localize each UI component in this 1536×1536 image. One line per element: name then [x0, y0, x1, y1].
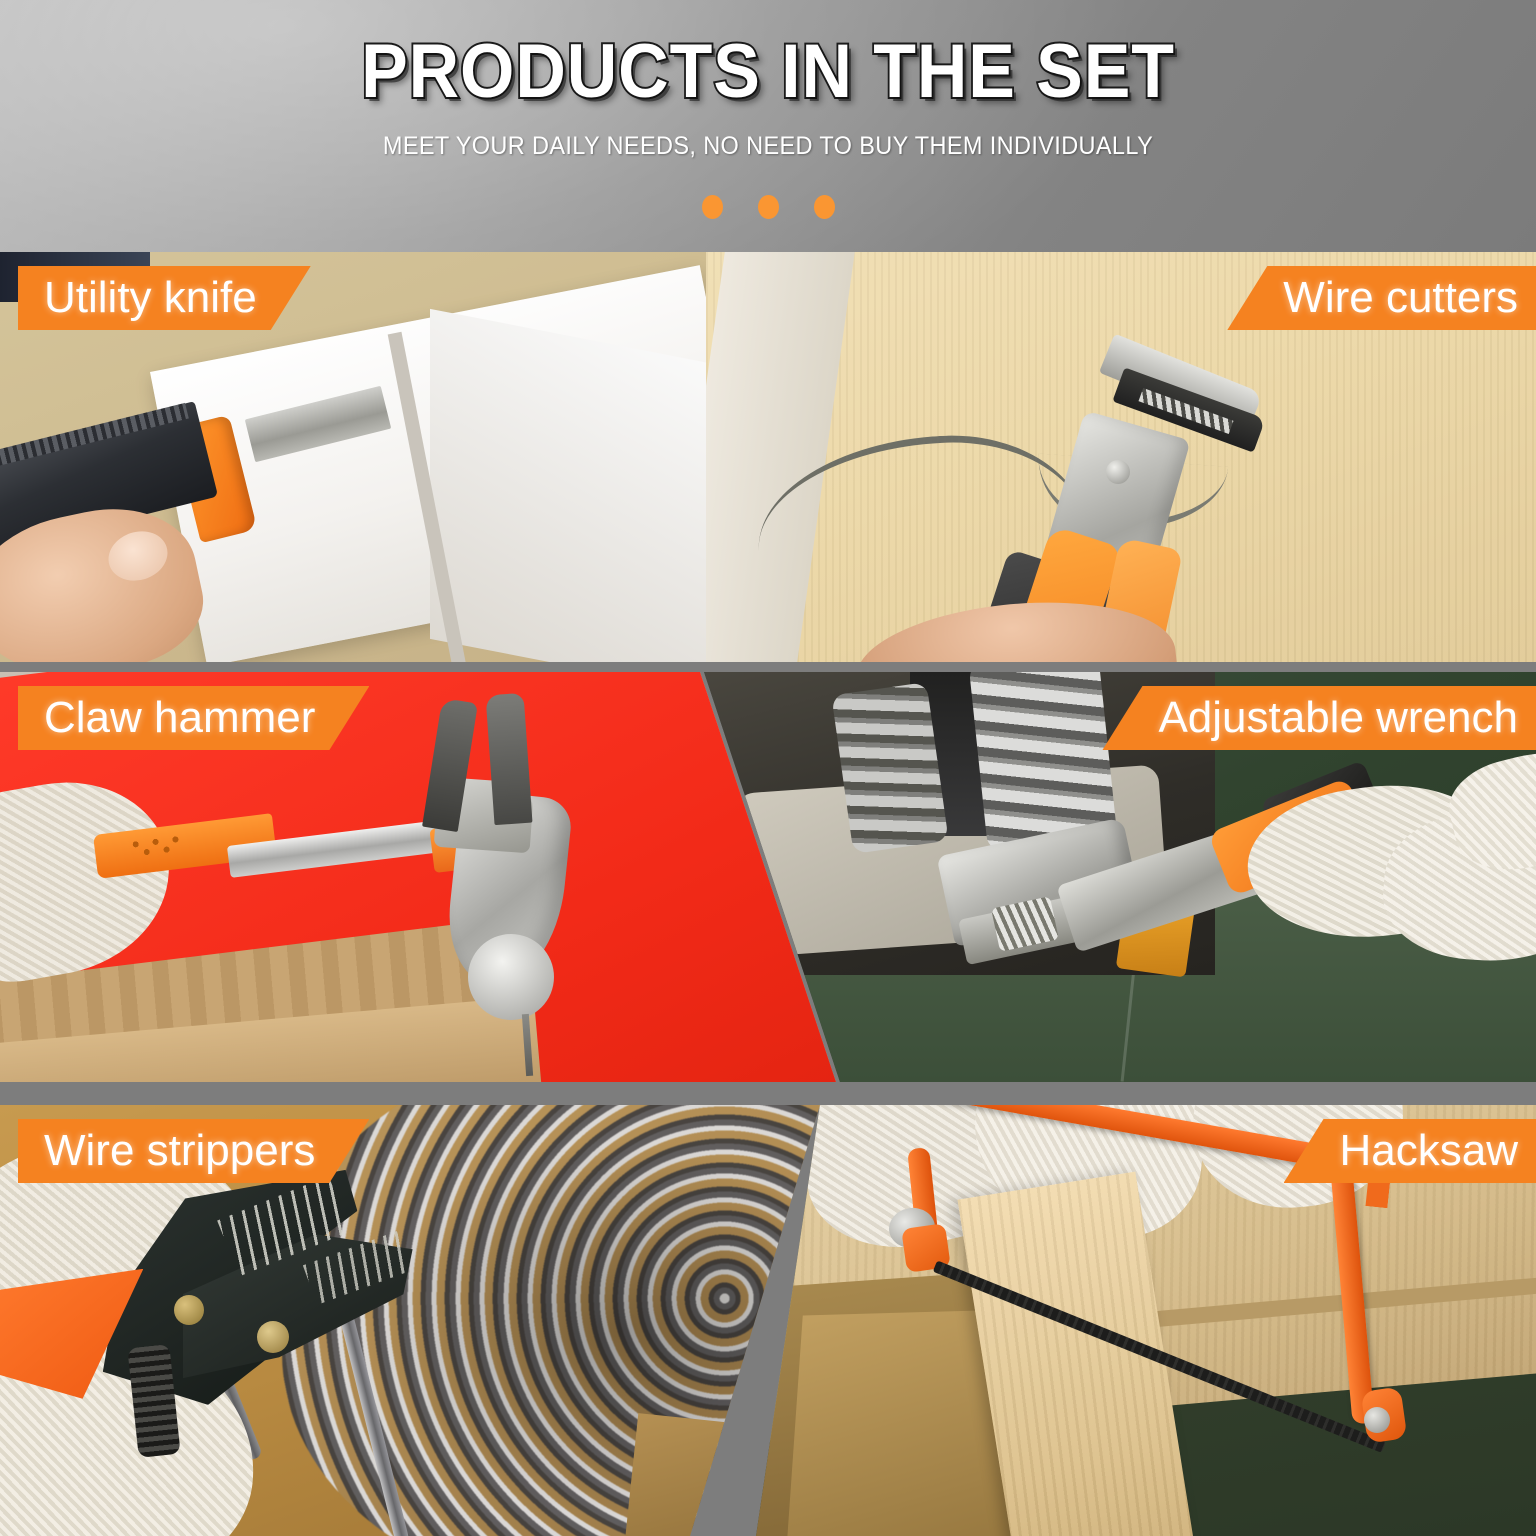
panel-utility-knife[interactable]: Utility knife [0, 252, 706, 662]
label-claw-hammer: Claw hammer [18, 686, 369, 750]
label-wire-strippers: Wire strippers [18, 1119, 369, 1183]
page-title: PRODUCTS IN THE SET [61, 34, 1474, 110]
panel-wire-cutters[interactable]: Wire cutters [706, 252, 1536, 662]
row-divider-2 [0, 1095, 1536, 1105]
label-text: Utility knife [44, 276, 257, 320]
label-text: Wire strippers [44, 1129, 315, 1173]
label-hacksaw: Hacksaw [1284, 1119, 1536, 1183]
dot-indicator-2[interactable] [758, 195, 779, 219]
panel-claw-hammer[interactable]: Claw hammer [0, 672, 840, 1082]
row-divider-1 [0, 662, 1536, 672]
product-photo-grid: Utility knife Wire cutters [0, 252, 1536, 1536]
label-adjustable-wrench: Adjustable wrench [1102, 686, 1536, 750]
dot-indicator-1[interactable] [702, 195, 723, 219]
header-banner: PRODUCTS IN THE SET MEET YOUR DAILY NEED… [0, 0, 1536, 252]
page-subtitle: MEET YOUR DAILY NEEDS, NO NEED TO BUY TH… [46, 134, 1490, 159]
label-wire-cutters: Wire cutters [1227, 266, 1536, 330]
dot-indicator-3[interactable] [814, 195, 835, 219]
grid-row-3: Wire strippers Hacksaw [0, 1105, 1536, 1536]
grid-row-1: Utility knife Wire cutters [0, 252, 1536, 662]
panel-wire-strippers[interactable]: Wire strippers [0, 1105, 830, 1536]
panel-hacksaw[interactable]: Hacksaw [756, 1105, 1536, 1536]
label-text: Hacksaw [1340, 1129, 1519, 1173]
grid-row-2: Claw hammer Adjustable wrench [0, 672, 1536, 1082]
panel-adjustable-wrench[interactable]: Adjustable wrench [690, 672, 1536, 1082]
label-text: Adjustable wrench [1158, 696, 1518, 740]
label-utility-knife: Utility knife [18, 266, 311, 330]
carousel-dots [0, 195, 1536, 219]
label-text: Wire cutters [1283, 276, 1518, 320]
label-text: Claw hammer [44, 696, 315, 740]
